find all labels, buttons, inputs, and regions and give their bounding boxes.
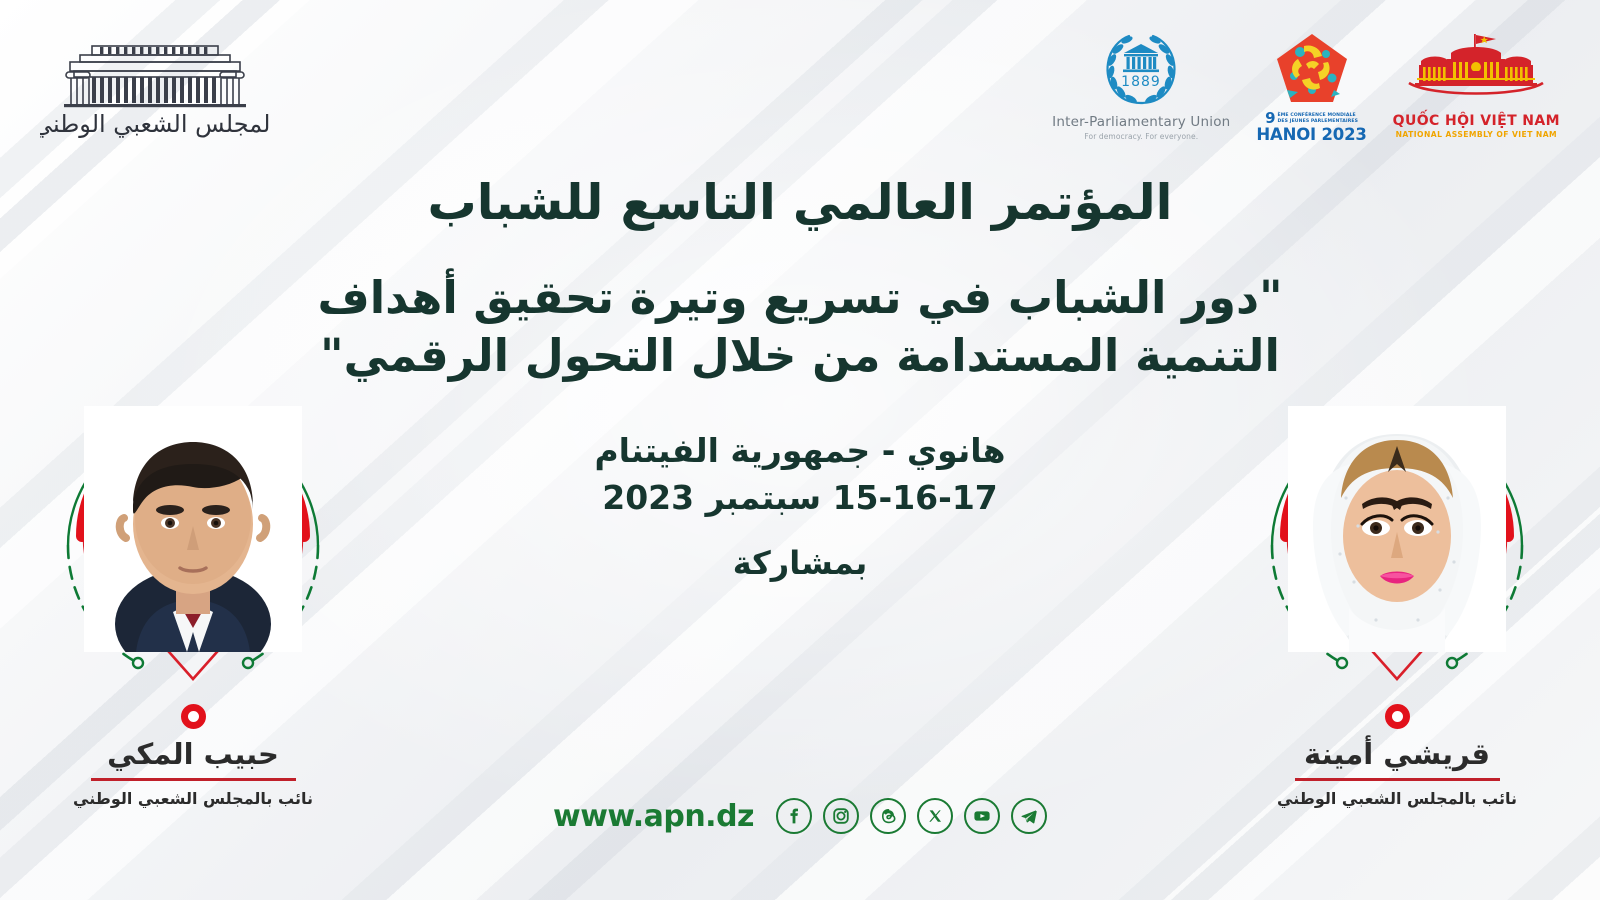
portrait-pin-left bbox=[28, 398, 358, 698]
page-title: المؤتمر العالمي التاسع للشباب bbox=[300, 175, 1300, 231]
pin-marker-dot-right bbox=[1385, 704, 1410, 729]
name-underline-left bbox=[91, 778, 296, 782]
banner-canvas: المجلس الشعبي الوطني bbox=[0, 0, 1600, 900]
apn-logo: المجلس الشعبي الوطني bbox=[40, 28, 270, 158]
ipu-tagline-label: For democracy. For everyone. bbox=[1084, 132, 1198, 141]
facebook-icon[interactable] bbox=[776, 798, 812, 834]
telegram-icon[interactable] bbox=[1011, 798, 1047, 834]
partner-logos: 1889 Inter-Parliamentary Union For democ… bbox=[1052, 30, 1560, 143]
x-twitter-icon[interactable] bbox=[917, 798, 953, 834]
vietnam-assembly-building-icon bbox=[1401, 30, 1551, 108]
partner-logo-ipu: 1889 Inter-Parliamentary Union For democ… bbox=[1052, 30, 1230, 141]
ipu-year-label: 1889 bbox=[1121, 74, 1161, 90]
website-link[interactable]: www.apn.dz bbox=[553, 799, 754, 834]
conference-theme: "دور الشباب في تسريع وتيرة تحقيق أهداف ا… bbox=[300, 269, 1300, 384]
apn-parliament-icon: المجلس الشعبي الوطني bbox=[40, 28, 270, 158]
social-links bbox=[776, 798, 1047, 834]
apn-wordmark: المجلس الشعبي الوطني bbox=[40, 110, 270, 138]
hanoi-pentagon-icon bbox=[1274, 30, 1350, 108]
footer-bar: www.apn.dz bbox=[0, 798, 1600, 834]
headline-block: المؤتمر العالمي التاسع للشباب "دور الشبا… bbox=[300, 175, 1300, 582]
hanoi-main-label: HANOI 2023 bbox=[1256, 127, 1366, 144]
name-underline-right bbox=[1295, 778, 1500, 782]
youtube-icon[interactable] bbox=[964, 798, 1000, 834]
ipu-name-label: Inter-Parliamentary Union bbox=[1052, 114, 1230, 130]
hanoi-wordmark: 9 ÈME CONFÉRENCE MONDIALE DES JEUNES PAR… bbox=[1256, 112, 1366, 143]
hanoi-ordinal: 9 bbox=[1265, 112, 1275, 126]
portrait-pin-right bbox=[1232, 398, 1562, 698]
portrait-photo-right bbox=[1288, 406, 1506, 652]
person-name-left: حبيب المكي bbox=[28, 739, 358, 771]
hanoi-subline-2: DES JEUNES PARLEMENTAIRES bbox=[1278, 119, 1359, 125]
person-name-right: قريشي أمينة bbox=[1232, 739, 1562, 771]
portrait-photo-left bbox=[84, 406, 302, 652]
participation-label: بمشاركة bbox=[300, 544, 1300, 582]
threads-icon[interactable] bbox=[870, 798, 906, 834]
person-card-right: قريشي أمينة نائب بالمجلس الشعبي الوطني bbox=[1232, 398, 1562, 808]
vietnam-na-label-vi: QUỐC HỘI VIỆT NAM bbox=[1393, 113, 1560, 129]
person-card-left: حبيب المكي نائب بالمجلس الشعبي الوطني bbox=[28, 398, 358, 808]
event-date: 15-16-17 سبتمبر 2023 bbox=[300, 478, 1300, 518]
event-location: هانوي - جمهورية الفيتنام bbox=[300, 431, 1300, 471]
partner-logo-vietnam-na: QUỐC HỘI VIỆT NAM NATIONAL ASSEMBLY OF V… bbox=[1393, 30, 1560, 139]
vietnam-na-label-en: NATIONAL ASSEMBLY OF VIET NAM bbox=[1396, 130, 1557, 139]
pin-marker-dot-left bbox=[181, 704, 206, 729]
instagram-icon[interactable] bbox=[823, 798, 859, 834]
partner-logo-hanoi2023: 9 ÈME CONFÉRENCE MONDIALE DES JEUNES PAR… bbox=[1256, 30, 1366, 143]
ipu-emblem-icon: 1889 bbox=[1098, 30, 1184, 108]
hanoi-subline-1: ÈME CONFÉRENCE MONDIALE bbox=[1278, 113, 1359, 119]
